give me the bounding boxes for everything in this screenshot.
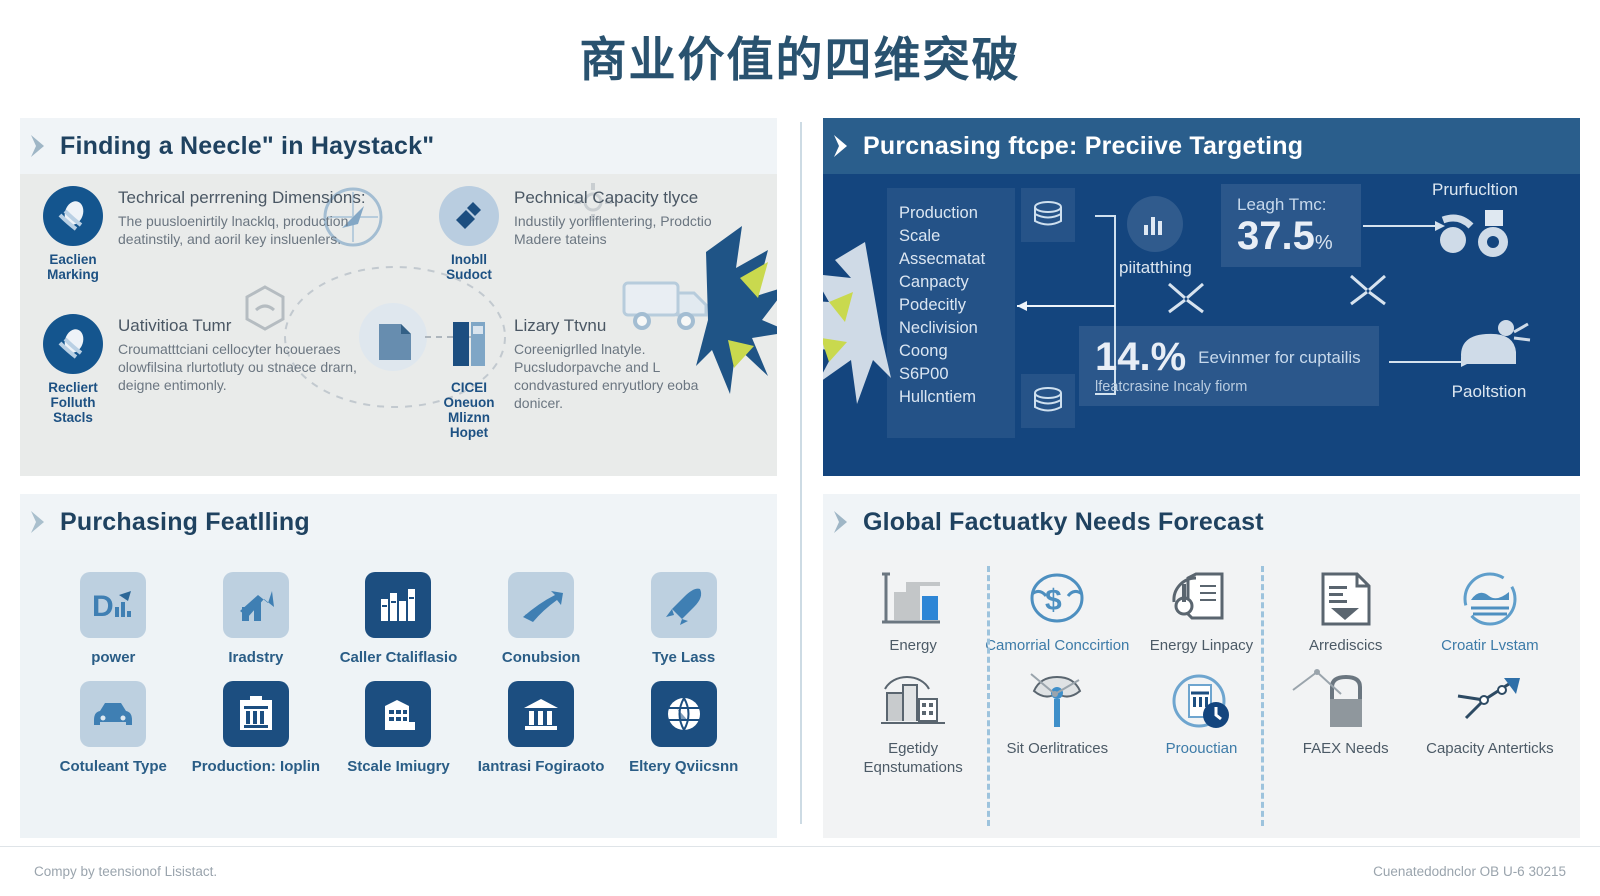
feature-label: power [42,648,185,667]
needle-item-caption: Eaclien Marking [42,252,104,282]
needle-item-caption: CICEI Oneuon Mliznn Hopet [438,380,500,440]
book-icon [439,314,499,374]
footer: Compy by teensionof Lisistact. Cuenatedo… [0,846,1600,896]
needle-item-text: Pechnical Capacity tlyce Industily yorli… [514,186,738,282]
stat-label: Eevinmer for cuptailis [1198,347,1361,368]
panel-body: Energy $ Camorrial Conccirtion [823,550,1580,838]
needle-item-caption: Inobll Sudoct [438,252,500,282]
list-item: Canpacty [899,271,1003,294]
globe-icon [651,681,717,747]
feature-label: Eltery Qviicsnn [612,757,755,776]
sparkle-icon [1163,278,1209,318]
needle-item: Recliert Folluth Stacls Uativitioa Tumr … [42,314,372,425]
stat-target-2: Paoltstion [1419,314,1559,402]
factory-building-icon [365,681,431,747]
forecast-label: Energy Linpacy [1129,636,1273,655]
gear-burst-icon [823,238,891,408]
panel-header: Finding a Neecle" in Haystack" [20,118,777,174]
needle-item-icon-block: CICEI Oneuon Mliznn Hopet [438,314,500,440]
chart-icon-block: Leagh Tmc: piitatthing [1119,196,1192,278]
connector-elbow-icon [1027,672,1087,712]
feature-label: Iradstry [185,648,328,667]
stat-target-caption: Paoltstion [1419,382,1559,402]
needle-item-body: Industily yorliflentering, Prodctio Made… [514,212,738,248]
infographic-page: 商业价值的四维突破 Finding a Neecle" in Haystack" [0,0,1600,896]
feature-label: Iantrasi Fogiraoto [470,757,613,776]
rocket-icon [651,572,717,638]
panel-header: Purchasing Featlling [20,494,777,550]
list-item: Hullcntiem [899,386,1003,409]
feature-cell[interactable]: Cotuleant Type [42,673,185,776]
needle-item-icon-block: Recliert Folluth Stacls [42,314,104,425]
needle-item: Eaclien Marking Techrical perrrening Dim… [42,186,372,282]
forecast-cell[interactable]: Croatir Lvstam [1418,562,1562,655]
needle-item-body: The puusloenirtily lnacklq, production d… [118,212,372,248]
forecast-label: Egetidy Eqnstumations [841,739,985,777]
stat-sub: lfeatcrasine Incaly fiorm [1095,378,1363,396]
chevron-right-icon [28,509,48,535]
feature-cell[interactable]: Caller Ctaliflasio [327,564,470,667]
panel-title: Purcnasing ftcpe: Preciive Targeting [863,132,1303,161]
needle-item-heading: Pechnical Capacity tlyce [514,188,738,208]
panel-body: D power [20,550,777,838]
list-item: Scale [899,225,1003,248]
list-item: Production [899,202,1003,225]
panel-title: Purchasing Featlling [60,508,310,537]
bank-icon [508,681,574,747]
feature-label: Tye Lass [612,648,755,667]
feature-cell[interactable]: Eltery Qviicsnn [612,673,755,776]
forecast-cell[interactable]: Energy [841,562,985,655]
needle-item: CICEI Oneuon Mliznn Hopet Lizary Ttvnu C… [438,314,738,440]
recycle-water-icon [1418,562,1562,636]
forecast-cell[interactable]: $ Camorrial Conccirtion [985,562,1129,655]
feature-label: Stcale Imiugry [327,757,470,776]
forecast-label: FAEX Needs [1274,739,1418,758]
target-circle-icon [43,314,103,374]
footer-right-text: Cuenatedodnclor OB U-6 30215 [1373,864,1566,879]
forecast-label: Sit Oerlitratices [985,739,1129,758]
needle-item-icon-block: Inobll Sudoct [438,186,500,282]
connector-elbow-icon [1289,668,1349,708]
stat-label: Leagh Tmc: [1237,194,1345,215]
needle-item-icon-block: Eaclien Marking [42,186,104,282]
car-icon [80,681,146,747]
forecast-label: Croatir Lvstam [1418,636,1562,655]
feature-label: Cotuleant Type [42,757,185,776]
feature-cell[interactable]: D power [42,564,185,667]
panel-title: Finding a Neecle" in Haystack" [60,132,434,161]
feature-label: Caller Ctaliflasio [327,648,470,667]
feature-cell[interactable]: Production: Ioplin [185,673,328,776]
needle-item-heading: Techrical perrrening Dimensions: [118,188,372,208]
bank-clipboard-icon [223,681,289,747]
list-item: Neclivision [899,317,1003,340]
needle-item: Inobll Sudoct Pechnical Capacity tlyce I… [438,186,738,282]
target-circle-icon [43,186,103,246]
trend-arrow-icon [1418,665,1562,739]
bar-chart-circle-icon [1127,196,1183,252]
stat-unit: % [1315,232,1333,255]
panel-header: Global Factuatky Needs Forecast [823,494,1580,550]
document-gauge-icon [1129,562,1273,636]
panel-purchasing-featuring: Purchasing Featlling D power [20,494,777,844]
list-item: Podecitly [899,294,1003,317]
svg-text:$: $ [1045,584,1062,617]
forecast-label: Camorrial Conccirtion [985,636,1129,655]
forecast-cell[interactable]: Arrediscics [1274,562,1418,655]
needle-item-text: Uativitioa Tumr Croumatttciani cellocyte… [118,314,372,425]
chart-label: piitatthing [1119,258,1192,278]
swoosh-arrow-icon [508,572,574,638]
panel-title: Global Factuatky Needs Forecast [863,508,1264,537]
forecast-label: Energy [841,636,985,655]
needle-item-heading: Uativitioa Tumr [118,316,372,336]
stat-lead-time: Leagh Tmc: 37.5 % [1221,184,1361,267]
chevron-right-icon [831,509,851,535]
feature-cell[interactable]: Iradstry [185,564,328,667]
panel-header: Purcnasing ftcpe: Preciive Targeting [823,118,1580,174]
needle-item-text: Lizary Ttvnu Coreenigrlled lnatyle. Pucs… [514,314,738,440]
footer-left-text: Compy by teensionof Lisistact. [34,864,217,879]
bar-books-icon [365,572,431,638]
stat-target-caption: Prurfucltion [1395,180,1555,200]
chevron-right-icon [28,133,48,159]
feature-cell[interactable]: Conubsion [470,564,613,667]
panel-precise-targeting: Purcnasing ftcpe: Preciive Targeting Pro… [823,118,1580,482]
dollar-circle-icon: $ [985,562,1129,636]
feature-icon-grid: D power [42,564,755,776]
chevron-right-icon [831,133,851,159]
feature-label: Production: Ioplin [185,757,328,776]
needle-item-text: Techrical perrrening Dimensions: The puu… [118,186,372,282]
download-doc-icon [1274,562,1418,636]
stat-value: 14.% [1095,336,1186,378]
sparkle-icon [1345,270,1391,310]
center-divider [777,118,823,844]
clock-bank-icon [1129,665,1273,739]
needle-item-caption: Recliert Folluth Stacls [42,380,104,425]
panel-finding-needle: Finding a Neecle" in Haystack" [20,118,777,482]
feature-label: Conubsion [470,648,613,667]
stat-capital: 14.% Eevinmer for cuptailis lfeatcrasine… [1079,326,1379,406]
panel-grid: Finding a Neecle" in Haystack" [20,118,1580,844]
feature-cell[interactable]: Stcale Imiugry [327,673,470,776]
svg-text:D: D [92,590,114,623]
panel-body: Eaclien Marking Techrical perrrening Dim… [20,174,777,476]
feature-cell[interactable]: Iantrasi Fogiraoto [470,673,613,776]
feature-cell[interactable]: Tye Lass [612,564,755,667]
forecast-cell[interactable]: Capacity Anterticks [1418,665,1562,777]
production-attribute-list: Production Scale Assecmatat Canpacty Pod… [887,188,1015,438]
flashlight-icon [439,186,499,246]
stat-value: 37.5 [1237,215,1315,257]
forecast-cell[interactable]: Energy Linpacy [1129,562,1273,655]
stat-target-1: Prurfucltion [1395,180,1555,264]
column-divider [987,566,990,826]
forecast-icon-grid: Energy $ Camorrial Conccirtion [841,562,1562,777]
page-title: 商业价值的四维突破 [0,0,1600,110]
dashboard-bars-icon: D [80,572,146,638]
column-divider [1261,566,1264,826]
forecast-cell[interactable]: Proouctian [1129,665,1273,777]
needle-item-heading: Lizary Ttvnu [514,316,738,336]
list-item: Assecmatat [899,248,1003,271]
needle-item-body: Croumatttciani cellocyter hcoueraes olow… [118,340,372,394]
plant-factory-icon [841,665,985,739]
molecule-icon [1395,206,1555,264]
forecast-label: Capacity Anterticks [1418,739,1562,758]
panel-global-forecast: Global Factuatky Needs Forecast [823,494,1580,844]
forecast-label: Arrediscics [1274,636,1418,655]
bar-chart-icon [841,562,985,636]
piggy-bank-icon [1419,314,1559,378]
panel-body: Production Scale Assecmatat Canpacty Pod… [823,174,1580,476]
forecast-cell[interactable]: Egetidy Eqnstumations [841,665,985,777]
growth-arrow-icon [223,572,289,638]
needle-item-body: Coreenigrlled lnatyle. Pucsludorpavche a… [514,340,738,412]
list-item: Coong [899,340,1003,363]
forecast-label: Proouctian [1129,739,1273,758]
list-item: S6P00 [899,363,1003,386]
